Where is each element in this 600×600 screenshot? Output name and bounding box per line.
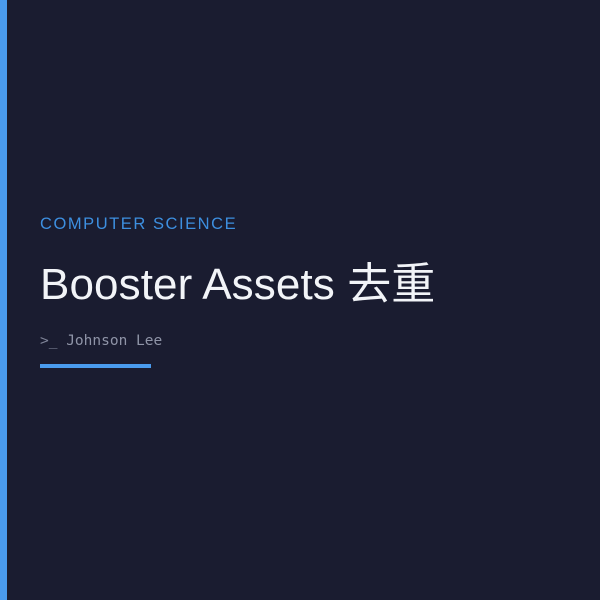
title-card-content: COMPUTER SCIENCE Booster Assets 去重 >_ Jo… <box>40 216 580 368</box>
terminal-prompt-icon: >_ <box>40 333 57 349</box>
byline-spacer <box>57 333 66 349</box>
author-underline-rule <box>40 364 151 368</box>
author-name: Johnson Lee <box>66 333 162 349</box>
author-byline: >_ Johnson Lee <box>40 334 580 349</box>
left-accent-bar <box>0 0 7 600</box>
category-eyebrow-label: COMPUTER SCIENCE <box>40 216 580 233</box>
title-card-slide: COMPUTER SCIENCE Booster Assets 去重 >_ Jo… <box>0 0 600 600</box>
slide-title: Booster Assets 去重 <box>40 262 580 308</box>
